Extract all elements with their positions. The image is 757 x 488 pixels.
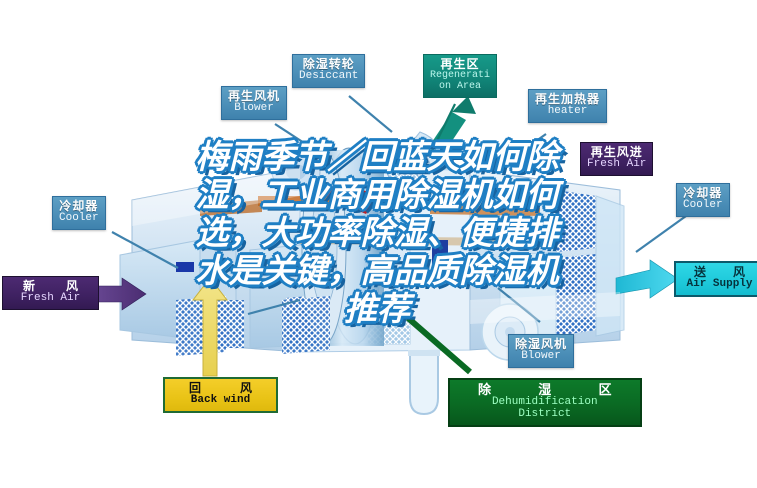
callout-regeneration-heater-en: heater <box>535 106 600 118</box>
callout-dehumidification-district: 除 湿 区 Dehumidification District <box>448 378 642 427</box>
drain-pipe <box>408 350 440 414</box>
callout-desiccant-wheel: 除湿转轮 Desiccant <box>292 54 365 88</box>
callout-regeneration-blower: 再生风机 Blower <box>221 86 287 120</box>
callout-desiccant-wheel-en: Desiccant <box>299 71 358 83</box>
callout-cooler-right-cn: 冷却器 <box>683 187 723 200</box>
callout-fresh-air-inlet: 再生风进 Fresh Air <box>580 142 653 176</box>
callout-dehumidification-blower-cn: 除湿风机 <box>515 338 567 351</box>
callout-desiccant-wheel-cn: 除湿转轮 <box>299 58 358 71</box>
callout-regeneration-blower-en: Blower <box>228 103 280 115</box>
callout-back-wind-en: Back wind <box>171 395 270 407</box>
callout-fresh-air-cn: 新 风 <box>9 280 92 293</box>
callout-air-supply: 送 风 Air Supply <box>674 261 757 297</box>
callout-fresh-air: 新 风 Fresh Air <box>2 276 99 310</box>
callout-regeneration-blower-cn: 再生风机 <box>228 90 280 103</box>
callout-dehumidification-district-cn: 除 湿 区 <box>456 383 634 397</box>
callout-dehumidification-blower: 除湿风机 Blower <box>508 334 574 368</box>
callout-cooler-left-en: Cooler <box>59 213 99 225</box>
callout-cooler-right: 冷却器 Cooler <box>676 183 730 217</box>
air-supply-arrow <box>616 260 678 298</box>
dehumidifier-schematic-artwork <box>0 0 757 488</box>
callout-cooler-right-en: Cooler <box>683 200 723 212</box>
callout-regeneration-area: 再生区 Regenerati on Area <box>423 54 497 98</box>
callout-regeneration-area-en-line2: on Area <box>430 82 490 93</box>
callout-back-wind: 回 风 Back wind <box>163 377 278 413</box>
diagram-canvas: 除湿转轮 Desiccant 再生风机 Blower 再生区 Regenerat… <box>0 0 757 488</box>
callout-back-wind-cn: 回 风 <box>171 382 270 395</box>
callout-dehumidification-blower-en: Blower <box>515 351 567 363</box>
callout-regeneration-heater-cn: 再生加热器 <box>535 93 600 106</box>
callout-regeneration-heater: 再生加热器 heater <box>528 89 607 123</box>
callout-regeneration-area-cn: 再生区 <box>430 58 490 71</box>
callout-fresh-air-en: Fresh Air <box>9 293 92 305</box>
callout-cooler-left-cn: 冷却器 <box>59 200 99 213</box>
callout-air-supply-en: Air Supply <box>682 279 757 291</box>
callout-cooler-left: 冷却器 Cooler <box>52 196 106 230</box>
callout-fresh-air-inlet-en: Fresh Air <box>587 159 646 171</box>
callout-dehumidification-district-en-line2: District <box>456 409 634 421</box>
callout-fresh-air-inlet-cn: 再生风进 <box>587 146 646 159</box>
callout-air-supply-cn: 送 风 <box>682 266 757 279</box>
